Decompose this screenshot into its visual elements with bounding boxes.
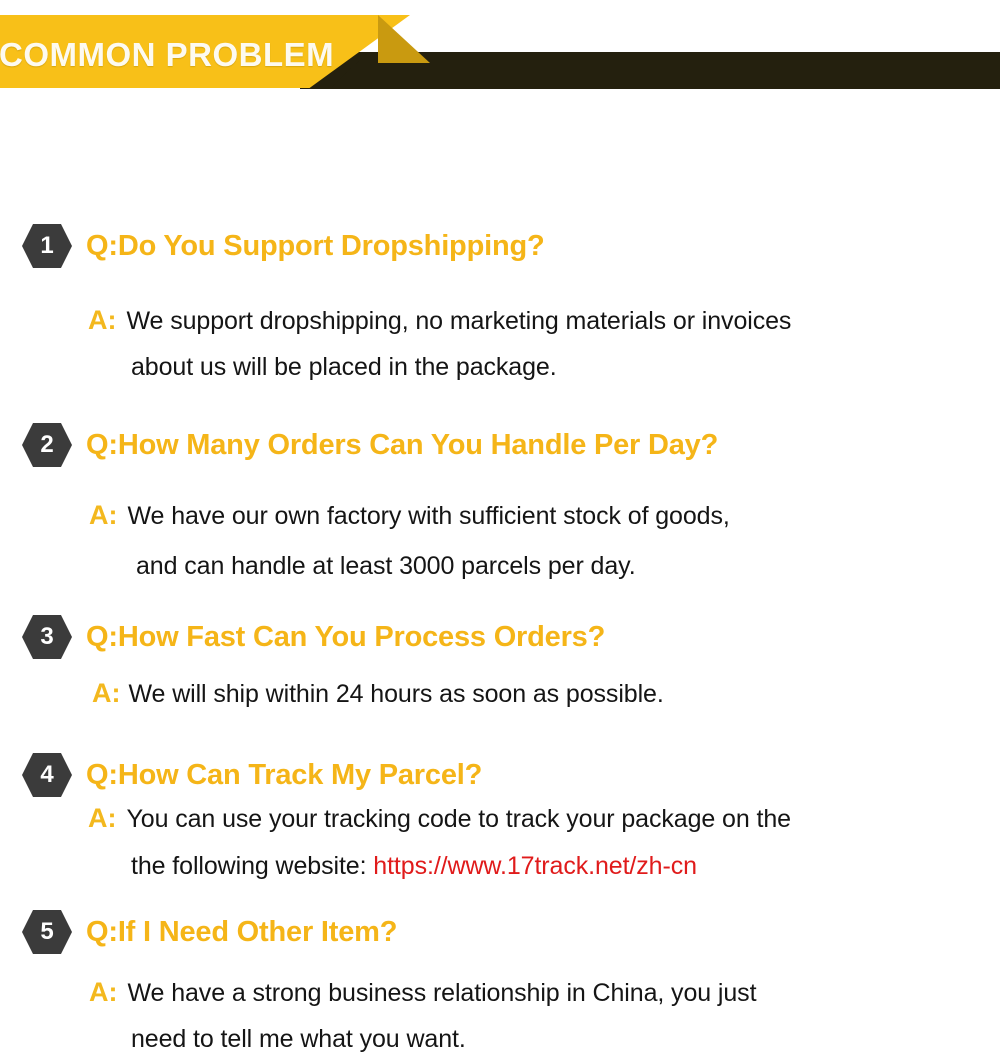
question-label: Do You Support Dropshipping? — [118, 230, 545, 262]
number-badge: 4 — [22, 753, 72, 797]
question-text: Q:How Many Orders Can You Handle Per Day… — [86, 429, 718, 462]
answer-prefix: A: — [89, 500, 118, 531]
answer-prefix: A: — [88, 803, 117, 834]
question-prefix: Q: — [86, 429, 118, 461]
number-badge: 3 — [22, 615, 72, 659]
question-row: 3 Q:How Fast Can You Process Orders? — [22, 615, 605, 659]
question-prefix: Q: — [86, 916, 118, 948]
question-label: How Fast Can You Process Orders? — [118, 621, 605, 653]
answer-line: A: You can use your tracking code to tra… — [88, 803, 791, 834]
question-row: 2 Q:How Many Orders Can You Handle Per D… — [22, 423, 718, 467]
answer-line: A: We have our own factory with sufficie… — [89, 500, 730, 531]
question-prefix: Q: — [86, 230, 118, 262]
question-label: If I Need Other Item? — [118, 916, 397, 948]
question-label: How Can Track My Parcel? — [118, 759, 482, 791]
question-row: 5 Q:If I Need Other Item? — [22, 910, 397, 954]
question-label: How Many Orders Can You Handle Per Day? — [118, 429, 718, 461]
number-badge: 2 — [22, 423, 72, 467]
answer-prefix: A: — [88, 305, 117, 336]
page-header: COMMON PROBLEM — [0, 0, 1000, 100]
question-text: Q:If I Need Other Item? — [86, 916, 397, 949]
tracking-link[interactable]: https://www.17track.net/zh-cn — [373, 852, 697, 880]
answer-prefix: A: — [89, 977, 118, 1008]
answer-line-continued: need to tell me what you want. — [131, 1025, 466, 1054]
answer-text: We support dropshipping, no marketing ma… — [127, 307, 792, 336]
question-row: 1 Q:Do You Support Dropshipping? — [22, 224, 544, 268]
question-text: Q:How Fast Can You Process Orders? — [86, 621, 605, 654]
question-prefix: Q: — [86, 621, 118, 653]
answer-line-continued: the following website: https://www.17tra… — [131, 852, 697, 881]
question-row: 4 Q:How Can Track My Parcel? — [22, 753, 482, 797]
answer-line: A: We have a strong business relationshi… — [89, 977, 756, 1008]
answer-text-lead: the following website: — [131, 852, 373, 880]
answer-line-continued: and can handle at least 3000 parcels per… — [136, 552, 636, 581]
answer-line: A: We support dropshipping, no marketing… — [88, 305, 791, 336]
answer-line-continued: about us will be placed in the package. — [131, 353, 557, 382]
answer-text: You can use your tracking code to track … — [127, 805, 791, 834]
question-prefix: Q: — [86, 759, 118, 791]
answer-text: We will ship within 24 hours as soon as … — [129, 680, 664, 709]
number-badge: 1 — [22, 224, 72, 268]
answer-line: A: We will ship within 24 hours as soon … — [92, 678, 664, 709]
question-text: Q:How Can Track My Parcel? — [86, 759, 482, 792]
answer-text: We have a strong business relationship i… — [128, 979, 757, 1008]
number-badge: 5 — [22, 910, 72, 954]
answer-text: We have our own factory with sufficient … — [128, 502, 730, 531]
question-text: Q:Do You Support Dropshipping? — [86, 230, 544, 263]
page-title: COMMON PROBLEM — [0, 36, 334, 74]
answer-prefix: A: — [92, 678, 121, 709]
